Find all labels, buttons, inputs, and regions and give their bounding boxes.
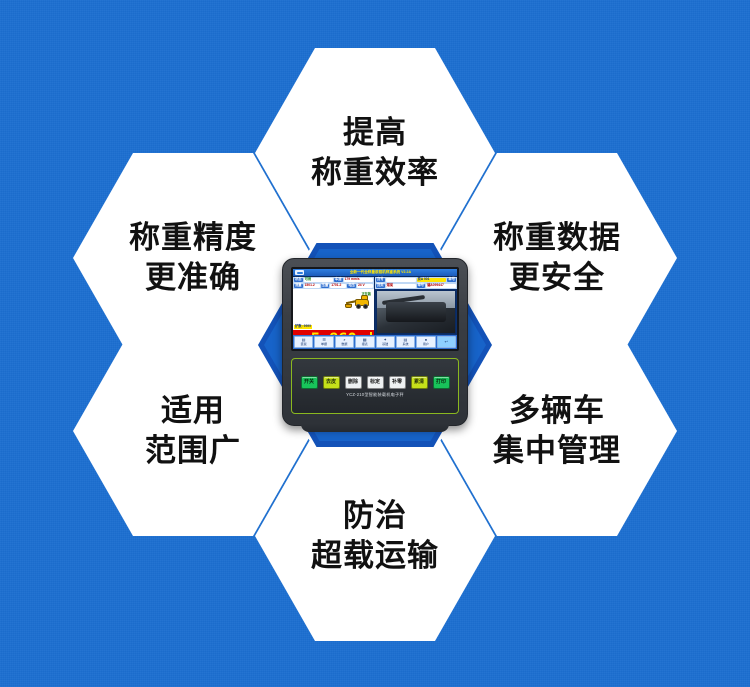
left-r2-k3: 电压 <box>347 284 356 288</box>
weighing-terminal-device[interactable]: 全新一代全称量装载机称重系统 V2.2A 状态 可用 车速 179 mm/s 流… <box>282 258 468 426</box>
device-keypad[interactable]: 开关 去皮 删除 标定 补零 累清 打印 YCZ-210型智能装载机电子秤 <box>291 358 459 414</box>
tab-back[interactable]: ↩ <box>437 336 456 348</box>
left-r1-v1: 可用 <box>304 278 333 282</box>
hex-top-line2: 称重效率 <box>311 153 439 193</box>
key-clear-total[interactable]: 累清 <box>411 376 428 389</box>
left-r2-v3: 24 V <box>357 284 373 288</box>
left-r2-k2: 压量 <box>321 284 330 288</box>
left-r1-v2: 179 mm/s <box>344 278 373 282</box>
tab-4-top: 报表 <box>362 343 368 346</box>
device-screen[interactable]: 全新一代全称量装载机称重系统 V2.2A 状态 可用 车速 179 mm/s 流… <box>291 267 459 351</box>
excavator-photo <box>376 290 456 334</box>
hex-top-left-line2: 更准确 <box>145 258 241 298</box>
key-power[interactable]: 开关 <box>301 376 318 389</box>
tab-6-top: 系统 <box>403 343 409 346</box>
right-r1-k1: 货号 <box>376 278 385 282</box>
keypad-button-row: 开关 去皮 删除 标定 补零 累清 打印 <box>301 376 450 389</box>
wheel-loader-icon: 正在装 <box>345 293 371 309</box>
key-print[interactable]: 打印 <box>433 376 450 389</box>
tab-basic-settings[interactable]: ✦ 基础 <box>376 336 395 348</box>
qr-code-icon <box>295 291 311 307</box>
key-calibrate[interactable]: 标定 <box>367 376 384 389</box>
screen-title-bar: 全新一代全称量装载机称重系统 V2.2A <box>293 269 457 277</box>
hex-bottom-left-line1: 适用 <box>161 391 225 431</box>
back-arrow-icon: ↩ <box>445 340 448 344</box>
tab-record[interactable]: ☰ 单据 <box>314 336 333 348</box>
tab-3-top: 数据 <box>341 343 347 346</box>
right-r1-v2: 京A 001 <box>417 278 447 282</box>
tab-5-top: 基础 <box>382 343 388 346</box>
left-r1-k2: 车速 <box>334 278 343 282</box>
right-r2-v2: 编A099447 <box>426 284 456 288</box>
left-r1-k1: 状态 <box>294 278 303 282</box>
tab-2-top: 单据 <box>321 343 327 346</box>
right-r2-k1: 货类 <box>376 284 385 288</box>
hex-bottom-left-line2: 范围广 <box>145 431 241 471</box>
key-tare[interactable]: 去皮 <box>323 376 340 389</box>
hex-bottom-right-line1: 多辆车 <box>509 391 605 431</box>
device-model-label: YCZ-210型智能装载机电子秤 <box>346 392 404 398</box>
right-r2-k2: 单号 <box>417 284 426 288</box>
left-r2-v1: 1501.2 <box>304 284 320 288</box>
hex-top-left-line1: 称重精度 <box>129 218 257 258</box>
key-delete[interactable]: 删除 <box>345 376 362 389</box>
tab-1-top: 装载 <box>301 343 307 346</box>
hex-bottom-line1: 防治 <box>343 496 407 536</box>
scoop-count-badge: 铲数: 9999 <box>294 325 312 329</box>
hex-top-right-line1: 称重数据 <box>493 218 621 258</box>
tab-system-params[interactable]: ▤ 系统 <box>396 336 415 348</box>
hex-bottom-line2: 超载运输 <box>311 536 439 576</box>
screen-title: 全新一代全称量装载机称重系统 V2.2A <box>306 270 455 274</box>
tab-loading-operation[interactable]: ▤ 装载 <box>294 336 313 348</box>
screen-tab-bar[interactable]: ▤ 装载 ☰ 单据 ⌕ 数据 ▦ 报表 ✦ 基础 <box>293 335 457 349</box>
left-r2-k1: 流量 <box>294 284 303 288</box>
right-r2-v1: 煤炭 <box>386 284 416 288</box>
hex-top-line1: 提高 <box>343 113 407 153</box>
poster-canvas: 提高 称重效率 称重精度 更准确 称重数据 更安全 适用 范围广 多辆车 集中管… <box>0 0 750 687</box>
right-r1-v1 <box>386 278 416 282</box>
hex-top-right-line2: 更安全 <box>509 258 605 298</box>
tab-user-management[interactable]: ● 用户 <box>416 336 435 348</box>
cloud-logo-icon <box>295 270 304 275</box>
right-info-row-2: 货类 煤炭 单号 编A099447 <box>375 283 457 289</box>
tab-report[interactable]: ▦ 报表 <box>355 336 374 348</box>
key-zero[interactable]: 补零 <box>389 376 406 389</box>
left-graphic-area: 正在装 铲数: 9999 <box>293 289 374 330</box>
tab-data-query[interactable]: ⌕ 数据 <box>335 336 354 348</box>
left-r2-v2: 1701.2 <box>330 284 346 288</box>
tab-7-top: 用户 <box>423 343 429 346</box>
hex-bottom-right-line2: 集中管理 <box>493 431 621 471</box>
right-r1-k3: 单号 <box>447 278 456 282</box>
